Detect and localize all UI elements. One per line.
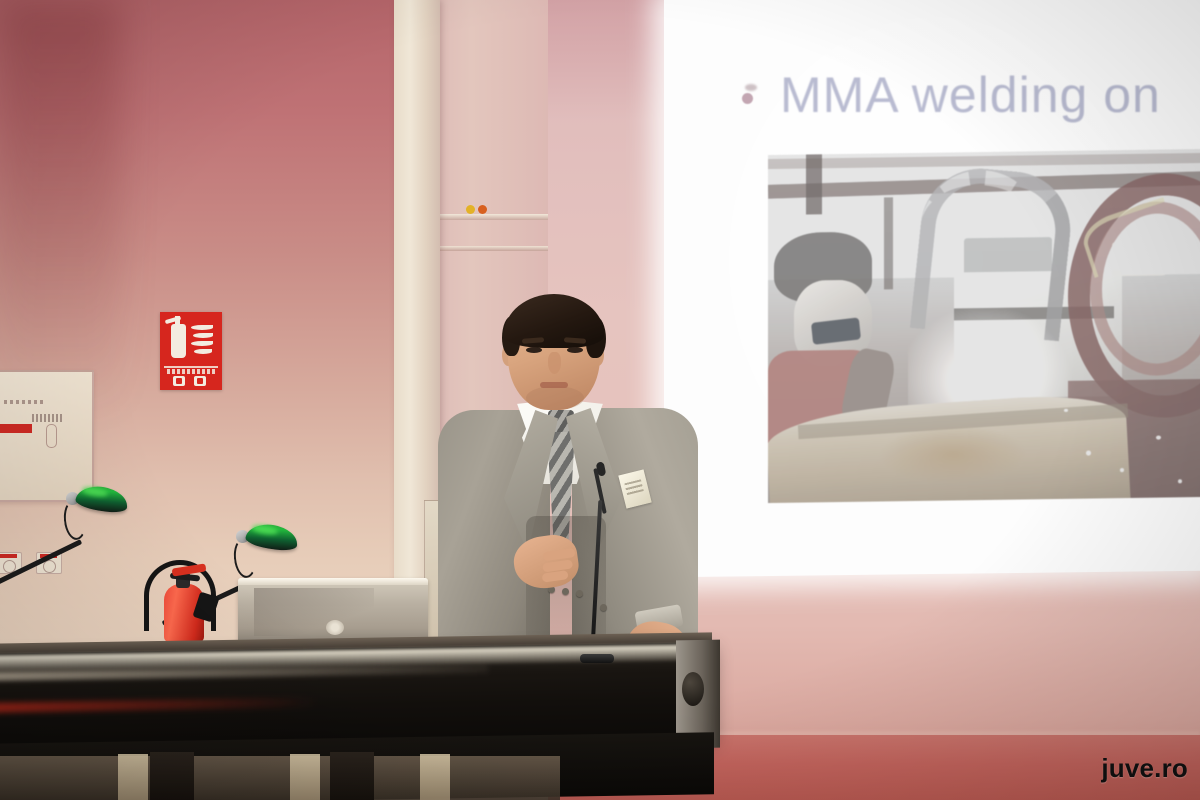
photo-scene: MMA welding on: [0, 0, 1200, 800]
laptop: [238, 578, 428, 642]
cabinet-label-text-secondary: [32, 414, 64, 422]
podium-leg: [150, 752, 194, 800]
wall-panel-outline: [430, 0, 550, 220]
slide-heading-text: MMA welding on: [780, 66, 1161, 124]
extinguisher-pictogram-icon: [171, 324, 186, 358]
sign-mini-icon: [173, 376, 185, 386]
nose: [548, 352, 561, 374]
floor-light-patch: [118, 754, 148, 800]
wall-control-cabinet: [0, 370, 94, 502]
cabinet-label-text: [4, 400, 46, 404]
cabinet-handle: [46, 424, 57, 448]
microphone-base: [580, 654, 614, 663]
speaker-person: [430, 286, 710, 686]
laptop-logo-icon: [326, 620, 344, 635]
ceiling-spot-icon: [745, 84, 757, 91]
podium-leg: [330, 752, 374, 800]
sign-caption-text: [167, 369, 215, 374]
wall-panel-ledge-upper: [428, 214, 548, 220]
podium-knob: [682, 672, 704, 706]
warning-circle-icon: [478, 205, 487, 214]
eye-right: [567, 347, 583, 353]
cabinet-red-label: [0, 424, 32, 433]
left-wall-shadow: [0, 0, 120, 420]
fire-extinguisher: [152, 560, 214, 642]
flame-pictogram-icon: [191, 323, 215, 357]
watermark: juve.ro: [1101, 753, 1188, 784]
sign-mini-icon: [194, 376, 206, 386]
fire-extinguisher-sign: [160, 312, 222, 390]
mouth: [540, 382, 568, 388]
chin-shading: [526, 386, 584, 410]
warning-triangle-icon: [466, 205, 475, 214]
wall-panel-ledge-lower: [428, 246, 548, 251]
floor-strip: [0, 756, 560, 800]
floor-light-patch: [290, 754, 320, 800]
floor-light-patch: [420, 754, 450, 800]
slide-bullet-icon: [742, 93, 753, 104]
eye-left: [526, 347, 542, 353]
slide-photo-welding: [768, 149, 1200, 503]
hair: [504, 294, 604, 348]
